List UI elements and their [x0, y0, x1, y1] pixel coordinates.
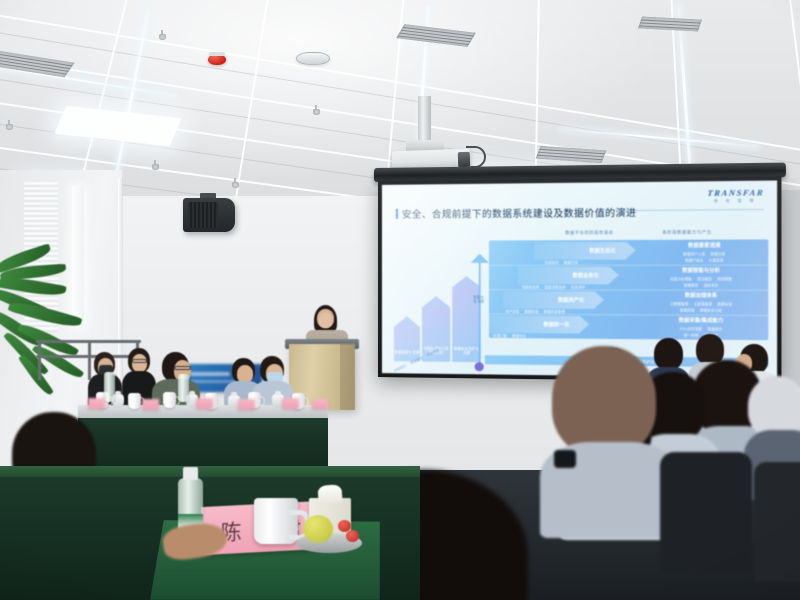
- chevron-label: 数据生态化: [589, 247, 615, 254]
- caption: 智能决策支持: [544, 284, 565, 289]
- caption: 合规先行: [393, 363, 407, 373]
- projector-pole: [418, 96, 431, 144]
- column-header-middle: 数据平台的阶段性演进: [565, 230, 613, 236]
- item: 数据质量: [680, 307, 695, 312]
- item: 主数据管理: [694, 301, 712, 306]
- right-items-top: 经营分析看板 算法模型 预测预警: [639, 276, 764, 281]
- sprinkler-head-icon: [157, 30, 167, 42]
- name-card: [88, 398, 105, 409]
- potted-palm-plant: [0, 250, 101, 410]
- water-bottle: [178, 374, 189, 402]
- row-2-captions: 场景化应用 智能决策支持 业务闭环: [522, 284, 585, 289]
- caption: 资产目录: [505, 309, 519, 314]
- diagram-stairs: 数据基建与 连通 流程在 线化计算 数据沉淀 数据安全 防护与治理: [392, 261, 493, 363]
- caption: 场景化应用: [522, 284, 540, 289]
- row-3-right: 数据治理体系 元数据管理 主数据管理 数据标准 数据质量 数据安全分级: [639, 292, 764, 313]
- row-1-right: 数据要素流通 数据资产入表 数据交易 数据产品化 价值变现: [647, 242, 761, 263]
- name-card: [312, 399, 328, 409]
- item: ETL/实时采集: [680, 326, 702, 331]
- water-bottle: [104, 372, 115, 402]
- row-3-captions: 资产目录 数据标准 数据质量管理: [505, 309, 564, 314]
- chevron-row-4: 数据统一化: [489, 316, 580, 334]
- chevron-row-2: 数据业务化: [518, 267, 610, 285]
- caption: 生态协同: [545, 260, 559, 265]
- item: 元数据管理: [670, 301, 688, 306]
- white-mug: [254, 498, 298, 544]
- face: [132, 354, 147, 372]
- value-spine: [479, 261, 481, 366]
- caption: 多源汇聚: [493, 333, 507, 338]
- caption: 数据质量管理: [544, 309, 565, 314]
- chair-back: [660, 452, 752, 572]
- item: 价值变现: [709, 257, 724, 262]
- item: 经营分析看板: [670, 276, 692, 281]
- stair-label: 数据安全 防护与治理: [452, 347, 480, 357]
- right-title: 数据要素流通: [647, 242, 761, 250]
- presenter-face: [319, 313, 332, 328]
- head: [748, 376, 800, 438]
- caption: 业务闭环: [571, 284, 585, 289]
- chevron-label: 数据资产化: [558, 297, 584, 304]
- item: 算法模型: [697, 276, 712, 281]
- caption: 数据标准: [524, 309, 538, 314]
- row-2-right: 数据智能与分析 经营分析看板 算法模型 预测预警 数据服务 指标体系: [639, 267, 764, 288]
- tea-cup: [163, 392, 176, 408]
- sprinkler-head-icon: [230, 178, 240, 190]
- name-card: [238, 399, 255, 410]
- right-title: 数据采集/集成能力: [637, 316, 766, 324]
- chevron-label: 数据业务化: [573, 272, 599, 279]
- spine-node-icon: [475, 362, 484, 371]
- item: 指标体系: [704, 282, 719, 287]
- tea-cup: [128, 393, 141, 409]
- sprinkler-head-icon: [150, 160, 160, 172]
- item: 数据交易: [711, 251, 726, 256]
- right-items-bottom: 数据服务 指标体系: [639, 282, 764, 287]
- wall-speaker: [183, 198, 235, 232]
- slide-title: 安全、合规前提下的数据系统建设及数据价值的演进: [396, 205, 637, 221]
- right-items-bottom: 数据质量 数据安全分级: [639, 307, 764, 313]
- title-accent-bar: [396, 209, 398, 219]
- right-items-top: ETL/实时采集 数据湖仓: [637, 326, 766, 332]
- ceiling-lamp: [296, 52, 330, 65]
- podium-shadow: [340, 344, 355, 410]
- column-header-right: 各阶段数据能力与产出: [662, 229, 711, 235]
- right-items-top: 元数据管理 主数据管理 数据标准: [639, 301, 764, 307]
- slide-title-text: 安全、合规前提下的数据系统建设及数据价值的演进: [402, 205, 637, 221]
- row-1-captions: 生态协同 数据开放: [545, 260, 578, 265]
- right-items-bottom: 数据产品化 价值变现: [647, 257, 761, 262]
- item: 数据资产入表: [683, 251, 705, 256]
- name-card: [142, 399, 159, 410]
- chevron-label: 数据统一化: [543, 321, 569, 328]
- title-rule: [624, 209, 764, 211]
- projector-lens-icon: [458, 152, 471, 167]
- item: 数据服务: [684, 282, 699, 287]
- caption: 数据中台: [512, 333, 526, 338]
- caption: 安全可控: [409, 355, 423, 365]
- spine-label: 数据 价值 演进: [473, 295, 485, 303]
- item: 数据湖仓: [708, 326, 723, 331]
- item: 数据标准: [717, 301, 732, 306]
- name-card: [282, 398, 299, 409]
- logo-subtitle: 传 化 智 联: [707, 198, 764, 204]
- right-title: 数据智能与分析: [639, 267, 764, 274]
- logo-wordmark: TRANSFAR: [707, 188, 765, 198]
- company-logo: TRANSFAR 传 化 智 联: [707, 188, 764, 204]
- glasses-icon: [132, 359, 147, 363]
- glasses-icon: [174, 366, 191, 370]
- chevron-row-3: 数据资产化: [503, 291, 594, 309]
- right-items-top: 数据资产入表 数据交易: [647, 251, 761, 256]
- chevron-row-1: 数据生态化: [534, 242, 626, 260]
- chair-back: [754, 462, 800, 582]
- bottle-cap: [183, 467, 198, 480]
- wrist-watch: [554, 450, 576, 468]
- tomato: [346, 530, 359, 542]
- sprinkler-head-icon: [4, 120, 14, 132]
- conference-room-photo: TRANSFAR 传 化 智 联 安全、合规前提下的数据系统建设及数据价值的演进…: [0, 0, 800, 600]
- audience-head-foreground-right: [540, 346, 670, 526]
- right-title: 数据治理体系: [639, 292, 764, 300]
- apple: [303, 515, 333, 543]
- sprinkler-head-icon: [311, 105, 321, 117]
- item: 预测预警: [717, 276, 732, 281]
- row-4-captions: 多源汇聚 数据中台: [493, 333, 526, 338]
- item: 数据产品化: [685, 257, 703, 262]
- spine-arrow-icon: [471, 254, 489, 263]
- item: 数据安全分级: [700, 307, 722, 312]
- name-card: [196, 398, 213, 409]
- head: [552, 346, 656, 456]
- fire-alarm-icon: [208, 54, 226, 65]
- caption: 数据开放: [564, 260, 578, 265]
